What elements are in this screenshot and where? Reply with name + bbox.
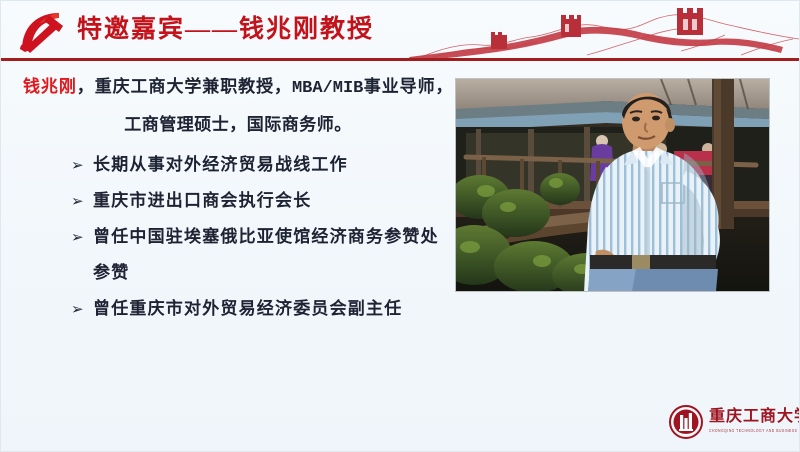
list-item: ➢ 曾任中国驻埃塞俄比亚使馆经济商务参赞处参赞 — [71, 219, 453, 291]
university-seal-icon — [669, 405, 703, 439]
list-item: ➢ 曾任重庆市对外贸易经济委员会副主任 — [71, 291, 453, 327]
list-item-label: 长期从事对外经济贸易战线工作 — [93, 155, 348, 174]
speaker-degree-programs: MBA/MIB — [292, 79, 363, 98]
hammer-and-sickle-icon — [15, 9, 67, 55]
speaker-photo — [456, 79, 769, 291]
university-logo: 重庆工商大学 CHONGQING TECHNOLOGY AND BUSINESS… — [669, 403, 781, 443]
speaker-intro-part1: ，重庆工商大学兼职教授， — [77, 77, 292, 96]
arrow-bullet-icon: ➢ — [71, 219, 85, 255]
credential-list: ➢ 长期从事对外经济贸易战线工作 ➢ 重庆市进出口商会执行会长 ➢ 曾任中国驻埃… — [23, 147, 453, 327]
university-name-en: CHONGQING TECHNOLOGY AND BUSINESS UNIVER… — [709, 428, 800, 433]
list-item-label: 重庆市进出口商会执行会长 — [93, 191, 311, 210]
page-title: 特邀嘉宾——钱兆刚教授 — [77, 13, 374, 47]
arrow-bullet-icon: ➢ — [71, 183, 85, 219]
speaker-name: 钱兆刚 — [23, 77, 77, 96]
list-item-label: 曾任中国驻埃塞俄比亚使馆经济商务参赞处参赞 — [93, 227, 439, 282]
great-wall-illustration — [381, 5, 800, 59]
header-divider — [1, 58, 800, 61]
speaker-intro-paragraph: 钱兆刚，重庆工商大学兼职教授，MBA/MIB事业导师，工商管理硕士，国际商务师。 — [23, 69, 453, 143]
speaker-bio-block: 钱兆刚，重庆工商大学兼职教授，MBA/MIB事业导师，工商管理硕士，国际商务师。… — [23, 69, 453, 327]
presentation-slide: 特邀嘉宾——钱兆刚教授 — [0, 0, 800, 452]
arrow-bullet-icon: ➢ — [71, 291, 85, 327]
arrow-bullet-icon: ➢ — [71, 147, 85, 183]
list-item-label: 曾任重庆市对外贸易经济委员会副主任 — [93, 299, 402, 318]
university-name-cn: 重庆工商大学 — [709, 408, 800, 426]
list-item: ➢ 长期从事对外经济贸易战线工作 — [71, 147, 453, 183]
list-item: ➢ 重庆市进出口商会执行会长 — [71, 183, 453, 219]
slide-header: 特邀嘉宾——钱兆刚教授 — [1, 1, 800, 61]
